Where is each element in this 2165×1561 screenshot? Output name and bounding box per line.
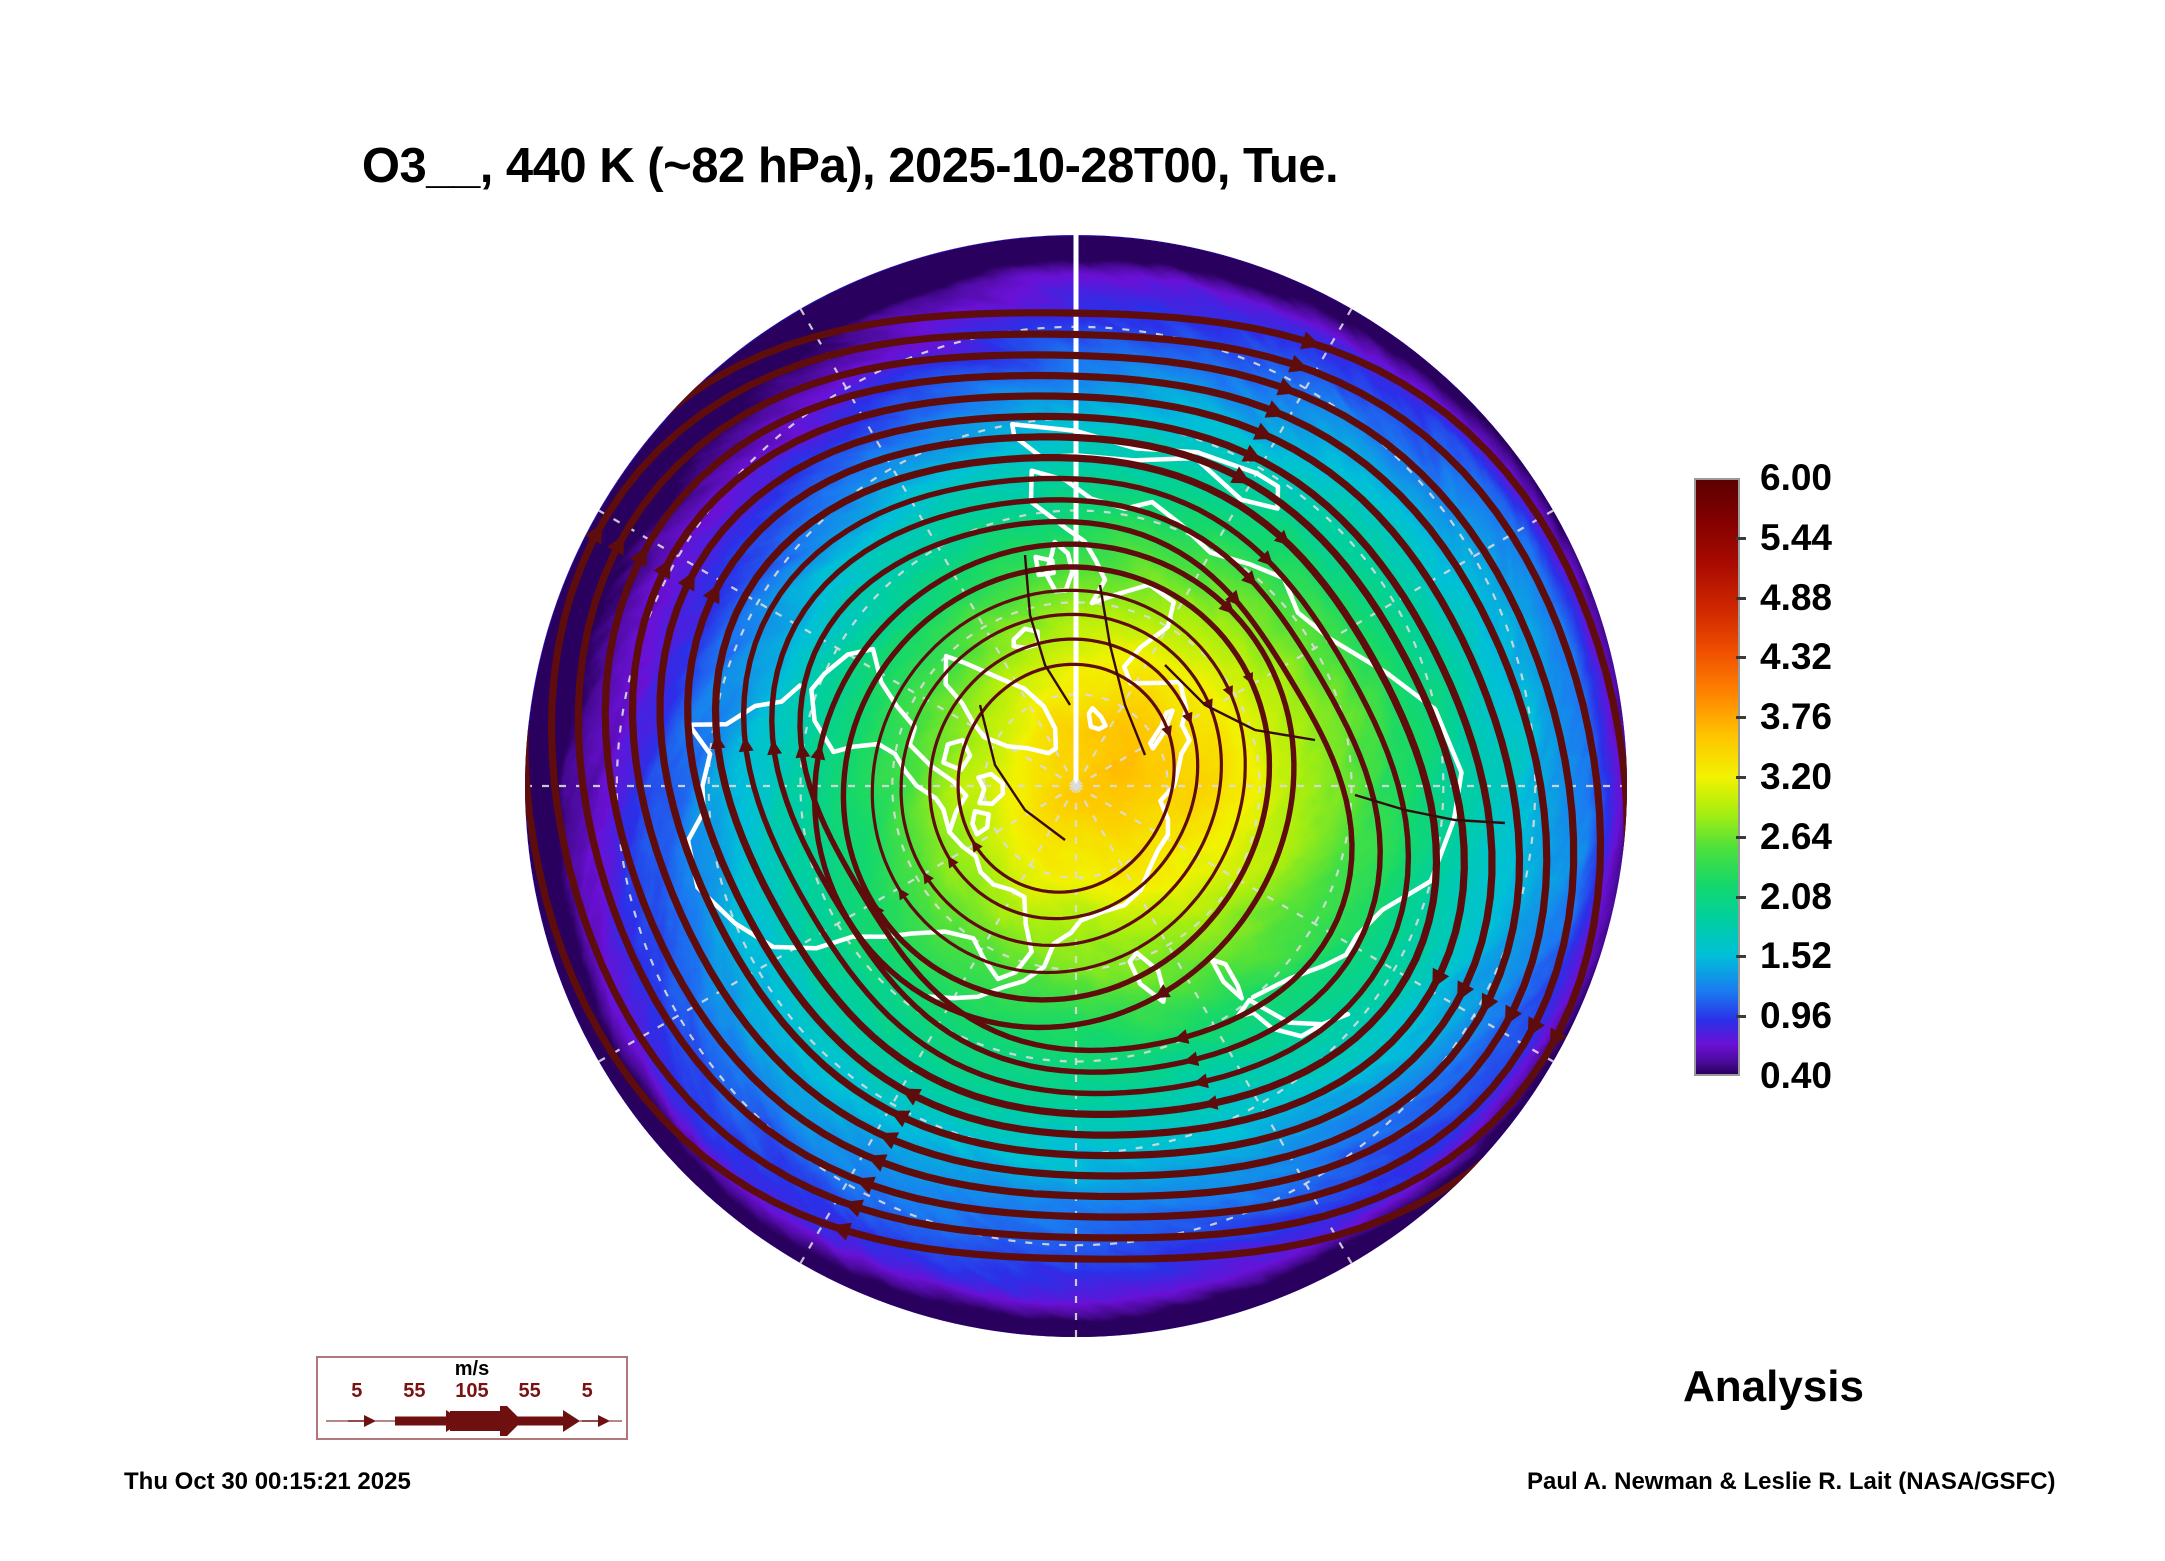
globe-disc bbox=[525, 235, 1627, 1337]
analysis-label: Analysis bbox=[1683, 1362, 1864, 1412]
colorbar-tick-label: 5.44 bbox=[1760, 517, 1832, 559]
colorbar-tick bbox=[1736, 597, 1746, 600]
wind-legend-arrow bbox=[450, 1406, 522, 1436]
colorbar-tick-label: 2.08 bbox=[1760, 876, 1832, 918]
wind-legend-units-label: m/s bbox=[318, 1358, 626, 1381]
attribution-credit: Paul A. Newman & Leslie R. Lait (NASA/GS… bbox=[1527, 1468, 2056, 1496]
streamline-arrowhead bbox=[737, 736, 753, 753]
coastline bbox=[1089, 708, 1106, 729]
colorbar-tick-label: 3.20 bbox=[1760, 756, 1832, 798]
wind-legend-arrow bbox=[512, 1410, 580, 1432]
colorbar-tick bbox=[1736, 776, 1746, 779]
colorbar-tick bbox=[1736, 1015, 1746, 1018]
wind-legend-value: 5 bbox=[558, 1380, 616, 1403]
colorbar-tick bbox=[1736, 896, 1746, 899]
colorbar-gradient bbox=[1694, 478, 1740, 1076]
streamline-arrowhead bbox=[1473, 993, 1498, 1018]
streamline-arrowhead bbox=[1241, 445, 1266, 470]
wind-legend-values: 555105555 bbox=[318, 1380, 626, 1403]
wind-legend-value: 5 bbox=[328, 1380, 386, 1403]
wind-legend-arrow bbox=[582, 1415, 610, 1427]
page-title: O3__, 440 K (~82 hPa), 2025-10-28T00, Tu… bbox=[0, 138, 1700, 194]
colorbar-tick bbox=[1736, 716, 1746, 719]
colorbar-tick-label: 1.52 bbox=[1760, 935, 1832, 977]
colorbar-tick-label: 0.96 bbox=[1760, 995, 1832, 1037]
polar-map bbox=[525, 235, 1627, 1337]
graticule-layer bbox=[525, 235, 1627, 1337]
colorbar-tick-label: 3.76 bbox=[1760, 696, 1832, 738]
colorbar-tick bbox=[1736, 537, 1746, 540]
colorbar-tick-label: 4.32 bbox=[1760, 636, 1832, 678]
map-overlay bbox=[525, 235, 1627, 1337]
coastline bbox=[1212, 960, 1242, 999]
coastline bbox=[972, 811, 988, 834]
streamline-arrowhead bbox=[794, 741, 811, 758]
wind-legend-value: 55 bbox=[386, 1380, 444, 1403]
generation-timestamp: Thu Oct 30 00:15:21 2025 bbox=[124, 1468, 411, 1496]
colorbar-tick-label: 0.40 bbox=[1760, 1055, 1832, 1097]
colorbar-tick-label: 4.88 bbox=[1760, 577, 1832, 619]
colorbar-tick-label: 6.00 bbox=[1760, 457, 1832, 499]
colorbar-tick bbox=[1736, 656, 1746, 659]
streamline-arrowhead bbox=[885, 1102, 910, 1127]
streamline-arrowhead bbox=[1424, 968, 1449, 993]
streamline-arrowhead bbox=[1449, 980, 1474, 1005]
streamline-arrowhead bbox=[709, 733, 725, 749]
colorbar-tick bbox=[1736, 836, 1746, 839]
colorbar-tick bbox=[1736, 955, 1746, 958]
streamline-arrowhead bbox=[678, 566, 703, 591]
wind-legend-arrows bbox=[324, 1406, 624, 1436]
wind-legend-value: 105 bbox=[443, 1380, 501, 1403]
streamline-arrowhead bbox=[703, 579, 728, 604]
wind-legend-arrow bbox=[348, 1415, 376, 1427]
coastline bbox=[978, 774, 1003, 804]
wind-legend-value: 55 bbox=[501, 1380, 559, 1403]
streamline-arrowhead bbox=[765, 739, 782, 756]
wind-speed-legend: m/s 555105555 bbox=[316, 1356, 628, 1440]
colorbar-tick-label: 2.64 bbox=[1760, 816, 1832, 858]
streamline-arrowhead bbox=[654, 554, 679, 579]
colorbar: 6.005.444.884.323.763.202.642.081.520.96… bbox=[1694, 478, 1994, 1078]
